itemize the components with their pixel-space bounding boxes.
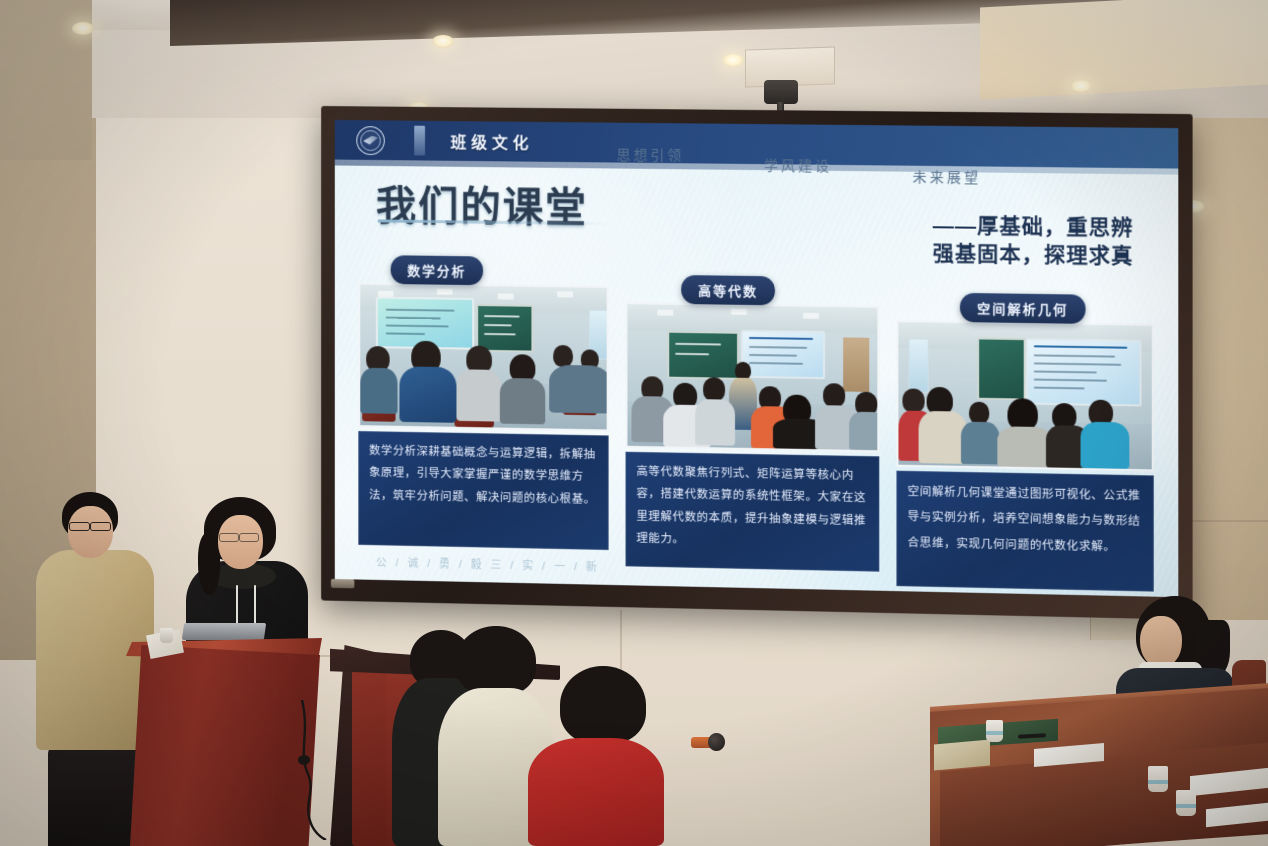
- presenter-face: [68, 506, 113, 558]
- slide-topbar-title: 班级文化: [451, 129, 534, 154]
- photo-projection-screen: [1026, 338, 1142, 406]
- photo-blackboard: [476, 304, 533, 353]
- photo-student-body: [997, 426, 1052, 467]
- bottle-cap: [708, 733, 725, 751]
- classroom-photo-analytic-geometry: [896, 320, 1153, 471]
- photo-student-head: [969, 402, 989, 424]
- course-pill-label: 高等代数: [681, 275, 775, 305]
- photo-student-body: [1081, 422, 1130, 469]
- wall-display[interactable]: 班级文化 思想引领 学风建设 未来展望 我们的课堂 ——厚基础，重思辨 强基固本…: [321, 106, 1192, 620]
- ceiling-warm-cove: [980, 0, 1268, 100]
- slogan-line-1: ——厚基础，重思辨: [933, 212, 1134, 243]
- photo-student-body: [360, 368, 397, 414]
- topbar-divider: [414, 126, 425, 156]
- photo-student-body: [399, 366, 456, 422]
- display-panel: 班级文化 思想引领 学风建设 未来展望 我们的课堂 ——厚基础，重思辨 强基固本…: [335, 120, 1178, 597]
- nav-item-thought-leadership[interactable]: 思想引领: [617, 145, 685, 166]
- audience-body: [528, 738, 664, 846]
- course-caption: 数学分析深耕基础概念与运算逻辑，拆解抽象原理，引导大家掌握严谨的数学思维方法，筑…: [358, 431, 608, 550]
- classroom-photo-mathematical-analysis: [358, 283, 608, 432]
- photo-student-body: [919, 411, 967, 464]
- podium-laptop[interactable]: [182, 623, 266, 640]
- nav-item-future-outlook[interactable]: 未来展望: [913, 167, 982, 188]
- screenshot-root: 班级文化 思想引领 学风建设 未来展望 我们的课堂 ——厚基础，重思辨 强基固本…: [0, 0, 1268, 846]
- university-seal-icon: [356, 126, 384, 155]
- slide-slogan: ——厚基础，重思辨 强基固本，探理求真: [933, 212, 1134, 272]
- presentation-slide: 班级文化 思想引领 学风建设 未来展望 我们的课堂 ——厚基础，重思辨 强基固本…: [335, 120, 1178, 597]
- photo-blackboard: [977, 337, 1026, 400]
- slide-headline: 我们的课堂: [376, 172, 588, 234]
- photo-window: [909, 338, 929, 393]
- course-caption: 空间解析几何课堂通过图形可视化、公式推导与实例分析，培养空间想象能力与数形结合思…: [896, 471, 1153, 592]
- photo-student-head: [823, 383, 845, 407]
- slogan-line-2: 强基固本，探理求真: [933, 241, 1134, 272]
- slide-section-nav: 思想引领 学风建设 未来展望: [617, 145, 1140, 185]
- presenter-face: [218, 515, 263, 569]
- photo-door: [843, 337, 869, 392]
- course-pill-label: 数学分析: [391, 255, 483, 285]
- glasses-icon: [69, 522, 90, 531]
- display-brand-badge: [331, 579, 354, 588]
- course-card-list: 数学分析: [358, 269, 1153, 592]
- notebook: [934, 740, 990, 771]
- audience-hair: [456, 626, 536, 696]
- evaluator-face: [1140, 616, 1182, 668]
- photo-blackboard: [667, 331, 739, 380]
- photo-student-head: [553, 345, 573, 367]
- downlight-icon: [722, 54, 744, 67]
- course-pill-label: 空间解析几何: [960, 293, 1086, 324]
- photo-student-head: [703, 377, 725, 401]
- glasses-icon: [239, 533, 259, 542]
- downlight-icon: [432, 35, 454, 48]
- photo-student-head: [902, 388, 924, 412]
- downlight-icon: [72, 22, 94, 35]
- nav-item-study-style[interactable]: 学风建设: [764, 155, 832, 176]
- course-card: 数学分析: [358, 269, 608, 580]
- paper-cup: [160, 628, 173, 643]
- presenter-legs: [48, 744, 140, 846]
- glasses-icon: [219, 533, 239, 542]
- speaker-podium: [130, 645, 320, 846]
- photo-student-body: [500, 378, 545, 424]
- course-caption: 高等代数聚焦行列式、矩阵运算等核心内容，搭建代数运算的系统性框架。大家在这里理解…: [626, 452, 880, 572]
- course-card: 高等代数: [626, 272, 880, 585]
- glasses-icon: [90, 522, 111, 531]
- thermos-bottle: [691, 733, 725, 751]
- paper-cup: [1148, 766, 1168, 792]
- downlight-icon: [1070, 80, 1092, 93]
- classroom-photo-advanced-algebra: [626, 302, 880, 452]
- photo-student-body: [849, 412, 879, 451]
- photo-student-body: [695, 399, 735, 446]
- course-card: 空间解析几何: [896, 276, 1153, 592]
- photo-projection-screen: [741, 330, 825, 379]
- photo-student-body: [961, 422, 999, 465]
- photo-student-body: [456, 369, 501, 421]
- paper-cup: [986, 720, 1003, 742]
- audience-hair: [560, 666, 646, 744]
- ceiling-projector: [764, 80, 798, 104]
- photo-student-body: [549, 365, 608, 414]
